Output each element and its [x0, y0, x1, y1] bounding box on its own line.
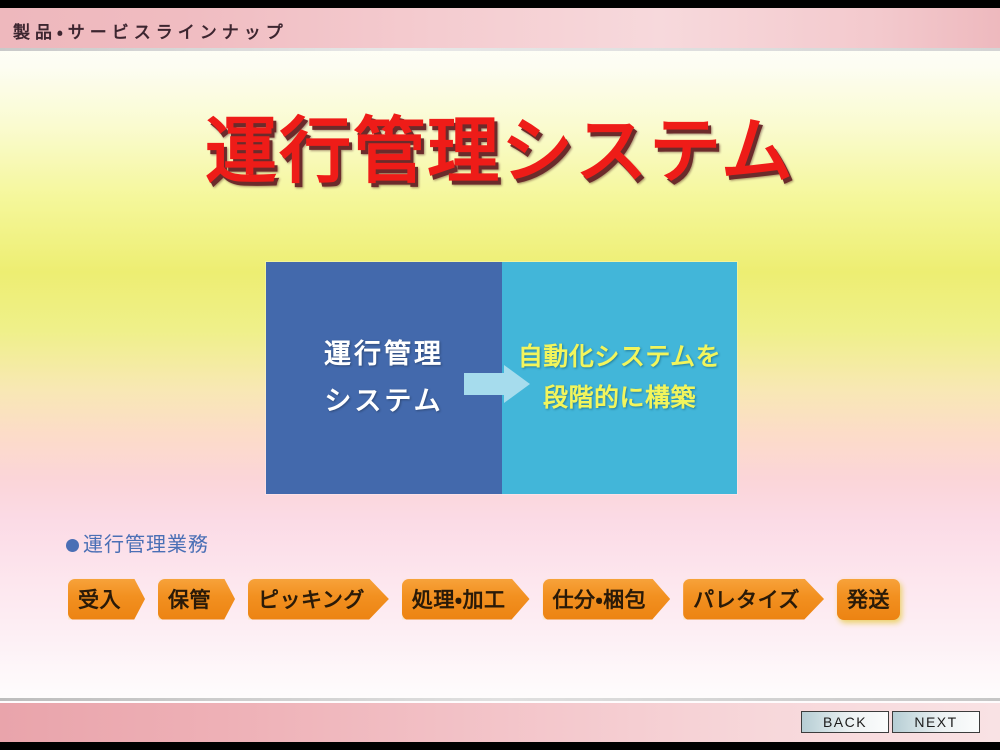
next-button[interactable]: NEXT — [892, 711, 980, 733]
diagram-panel-left-text: 運行管理 システム — [324, 331, 444, 426]
bottom-letterbox-strip — [0, 742, 1000, 750]
navigation-buttons: BACK NEXT — [798, 711, 980, 733]
top-letterbox-strip — [0, 0, 1000, 8]
page-title: 運行管理システム — [0, 92, 1000, 197]
flow-step-label: 保管 — [168, 584, 211, 614]
diagram-right-line1: 自動化システムを — [518, 337, 721, 378]
diagram-right-line2: 段階的に構築 — [518, 378, 721, 419]
flow-step-7[interactable]: 発送 — [837, 579, 900, 620]
flow-step-4[interactable]: 処理・加工 — [402, 579, 530, 620]
flow-step-1[interactable]: 受入 — [68, 579, 145, 620]
diagram-left-line2: システム — [324, 378, 444, 425]
section-heading-label: 運行管理業務 — [83, 534, 209, 556]
slide-canvas: 製品・サービスラインナップ 運行管理システム 運行管理 システム 自動化システム… — [0, 0, 1000, 750]
back-button[interactable]: BACK — [801, 711, 889, 733]
flow-step-label: ピッキング — [258, 584, 365, 614]
bullet-dot-icon — [66, 539, 79, 552]
arrow-shaft — [464, 373, 506, 395]
diagram-panel-right: 自動化システムを 段階的に構築 — [502, 262, 737, 494]
flow-step-label: パレタイズ — [693, 584, 800, 614]
flow-step-2[interactable]: 保管 — [158, 579, 235, 620]
diagram-panel-right-text: 自動化システムを 段階的に構築 — [518, 337, 721, 420]
process-flow: 受入保管ピッキング処理・加工仕分・梱包パレタイズ発送 — [68, 575, 958, 623]
flow-step-5[interactable]: 仕分・梱包 — [543, 579, 671, 620]
header-divider — [0, 48, 1000, 51]
flow-step-label: 発送 — [847, 584, 890, 614]
arrow-head — [504, 365, 530, 403]
footer-divider — [0, 698, 1000, 701]
concept-diagram: 運行管理 システム 自動化システムを 段階的に構築 — [266, 262, 737, 494]
flow-step-3[interactable]: ピッキング — [248, 579, 389, 620]
diagram-left-line1: 運行管理 — [324, 331, 444, 378]
section-heading: 運行管理業務 — [66, 528, 209, 557]
flow-step-6[interactable]: パレタイズ — [683, 579, 824, 620]
flow-step-label: 仕分・梱包 — [553, 584, 647, 614]
header-title: 製品・サービスラインナップ — [13, 18, 288, 43]
flow-step-label: 受入 — [78, 584, 121, 614]
flow-step-label: 処理・加工 — [412, 584, 506, 614]
